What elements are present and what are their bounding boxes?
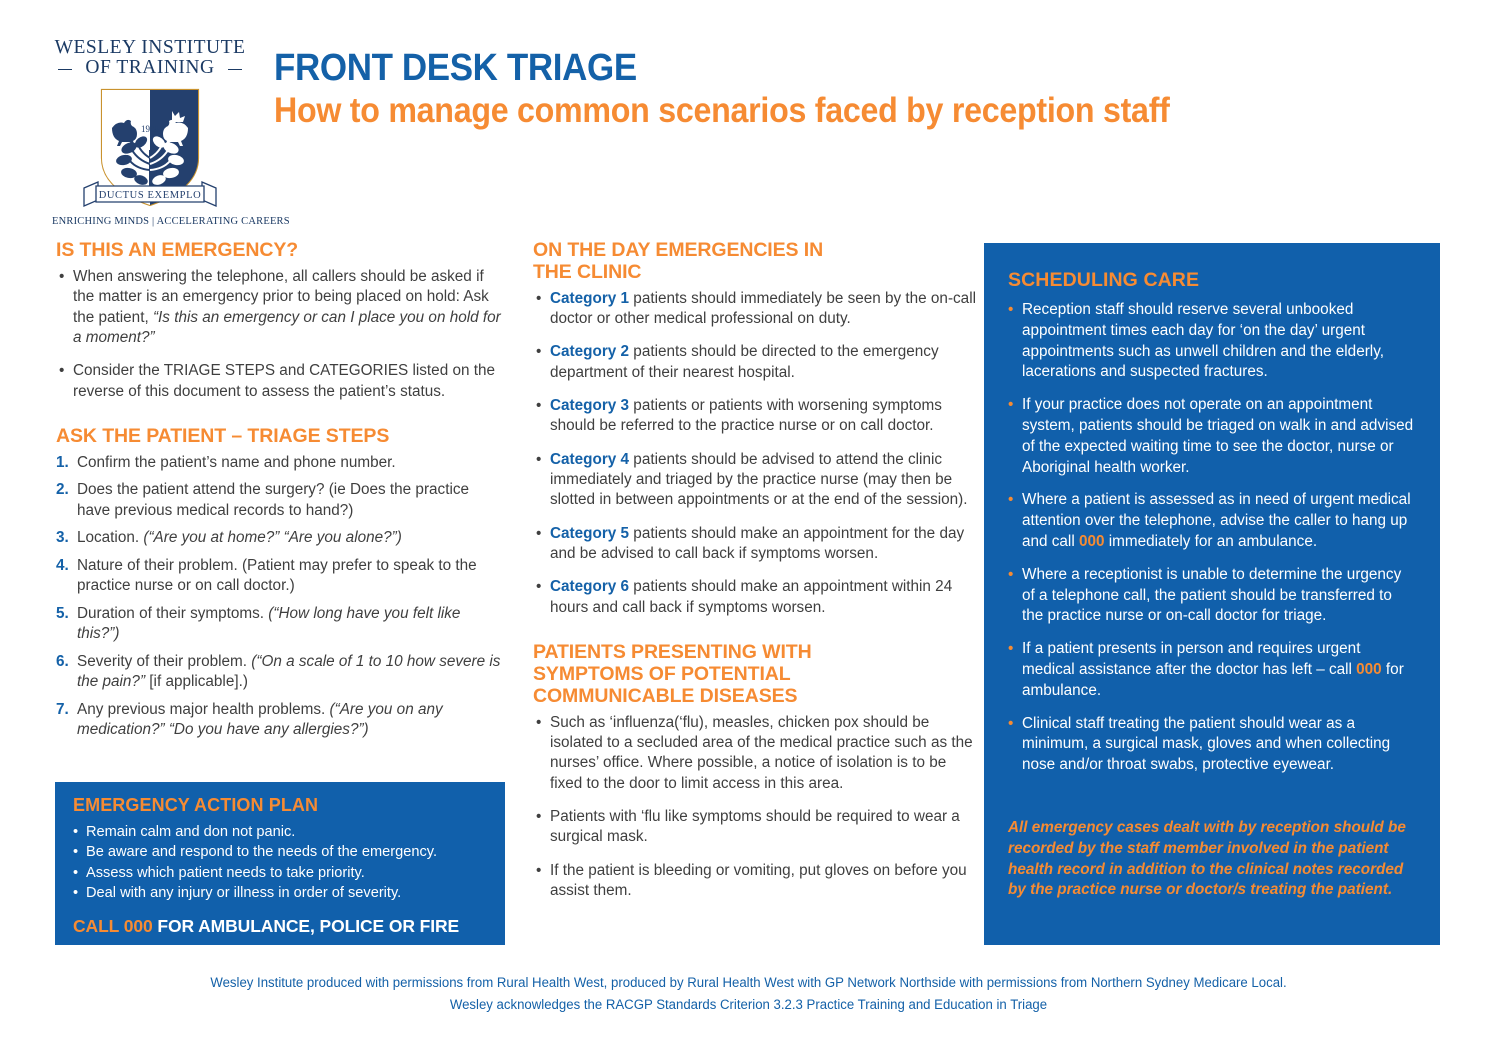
svg-text:1998: 1998 [141,124,160,134]
list-item: Consider the TRIAGE STEPS and CATEGORIES… [56,361,502,402]
triage-step: 7.Any previous major health problems. (“… [56,700,502,741]
quoted-phrase: (“How long have you felt like this?”) [77,605,460,642]
section-heading-communicable-diseases: PATIENTS PRESENTING WITH SYMPTOMS OF POT… [533,642,976,707]
list-item: Assess which patient needs to take prior… [73,864,487,883]
list-item: When answering the telephone, all caller… [56,267,502,348]
category-item: Category 4 patients should be advised to… [533,450,976,511]
step-number: 6. [56,652,69,672]
logo-tagline: ENRICHING MINDS | ACCELERATING CAREERS [52,216,248,227]
communicable-heading-line-2: SYMPTOMS OF POTENTIAL [533,663,791,685]
emergency-number: 000 [1079,533,1105,550]
category-item: Category 5 patients should make an appoi… [533,524,976,565]
logo-line-2: OF TRAINING [52,58,248,78]
category-item: Category 2 patients should be directed t… [533,342,976,383]
emergency-question-list: When answering the telephone, all caller… [56,267,502,402]
category-label: Category 3 [550,397,629,414]
section-heading-triage-steps: ASK THE PATIENT – TRIAGE STEPS [56,426,502,448]
communicable-heading-line-1: PATIENTS PRESENTING WITH [533,641,812,663]
category-label: Category 4 [550,451,629,468]
quoted-phrase: (“On a scale of 1 to 10 how severe is th… [77,653,500,690]
list-item: Reception staff should reserve several u… [1008,300,1416,383]
page-title: FRONT DESK TRIAGE [274,48,1304,88]
page-subtitle: How to manage common scenarios faced by … [274,91,1304,130]
list-item: If a patient presents in person and requ… [1008,639,1416,701]
communicable-heading-line-3: COMMUNICABLE DISEASES [533,685,797,707]
clinic-heading-line-1: ON THE DAY EMERGENCIES IN [533,239,823,261]
step-number: 3. [56,528,69,548]
list-item: If your practice does not operate on an … [1008,395,1416,478]
left-column: IS THIS AN EMERGENCY? When answering the… [56,240,502,748]
poster-page: WESLEY INSTITUTE OF TRAINING [0,0,1497,1058]
section-heading-is-this-an-emergency: IS THIS AN EMERGENCY? [56,240,502,262]
title-block: FRONT DESK TRIAGE How to manage common s… [274,48,1394,130]
list-item: Clinical staff treating the patient shou… [1008,714,1416,776]
list-item: Where a receptionist is unable to determ… [1008,565,1416,627]
logo-wordmark: WESLEY INSTITUTE OF TRAINING [52,38,248,78]
quoted-phrase: “Is this an emergency or can I place you… [73,309,501,346]
step-number: 4. [56,556,69,576]
crest-motto: DUCTUS EXEMPLO [99,190,202,201]
emergency-number: 000 [1356,661,1382,678]
list-item: If the patient is bleeding or vomiting, … [533,861,976,902]
triage-step: 1.Confirm the patient’s name and phone n… [56,453,502,473]
call-000-rest: FOR AMBULANCE, POLICE OR FIRE [153,916,460,936]
triage-steps-list: 1.Confirm the patient’s name and phone n… [56,453,502,741]
list-item: Such as ‘influenza(‘flu), measles, chick… [533,713,976,794]
list-item: Remain calm and don not panic. [73,823,487,842]
category-list: Category 1 patients should immediately b… [533,289,976,618]
category-item: Category 6 patients should make an appoi… [533,577,976,618]
middle-column: ON THE DAY EMERGENCIES IN THE CLINIC Cat… [533,240,976,914]
category-label: Category 1 [550,290,629,307]
list-item: Deal with any injury or illness in order… [73,884,487,903]
list-item: Patients with ‘flu like symptoms should … [533,807,976,848]
scheduling-care-list: Reception staff should reserve several u… [1008,300,1416,776]
quoted-phrase: (“Are you at home?” “Are you alone?”) [143,529,401,546]
step-number: 5. [56,604,69,624]
triage-step: 4.Nature of their problem. (Patient may … [56,556,502,597]
category-label: Category 5 [550,525,629,542]
poster-footer: Wesley Institute produced with permissio… [52,972,1444,1016]
list-item: Be aware and respond to the needs of the… [73,843,487,862]
scheduling-care-heading: SCHEDULING CARE [1008,269,1416,292]
category-label: Category 6 [550,578,629,595]
emergency-action-plan-list: Remain calm and don not panic.Be aware a… [73,823,487,903]
step-number: 1. [56,453,69,473]
category-item: Category 1 patients should immediately b… [533,289,976,330]
communicable-disease-list: Such as ‘influenza(‘flu), measles, chick… [533,713,976,902]
footer-line-1: Wesley Institute produced with permissio… [52,972,1444,994]
quoted-phrase: (“Are you on any medication?” “Do you ha… [77,701,443,738]
category-item: Category 3 patients or patients with wor… [533,396,976,437]
section-heading-on-the-day-emergencies: ON THE DAY EMERGENCIES IN THE CLINIC [533,240,976,284]
call-000-label: CALL 000 [73,916,153,936]
step-number: 2. [56,480,69,500]
triage-step: 3.Location. (“Are you at home?” “Are you… [56,528,502,548]
emergency-action-plan-box: EMERGENCY ACTION PLAN Remain calm and do… [55,782,505,945]
triage-step: 5.Duration of their symptoms. (“How long… [56,604,502,645]
poster-header: WESLEY INSTITUTE OF TRAINING [0,0,1497,232]
emergency-action-plan-heading: EMERGENCY ACTION PLAN [73,795,487,816]
logo-line-1: WESLEY INSTITUTE [52,38,248,58]
triage-step: 6.Severity of their problem. (“On a scal… [56,652,502,693]
list-item: Where a patient is assessed as in need o… [1008,490,1416,552]
footer-line-2: Wesley acknowledges the RACGP Standards … [52,994,1444,1016]
step-number: 7. [56,700,69,720]
crest-icon: 1998 [96,84,204,210]
emergency-record-note: All emergency cases dealt with by recept… [1008,818,1423,901]
triage-step: 2.Does the patient attend the surgery? (… [56,480,502,521]
wesley-institute-logo: WESLEY INSTITUTE OF TRAINING [52,38,248,227]
category-label: Category 2 [550,343,629,360]
clinic-heading-line-2: THE CLINIC [533,261,641,283]
call-000-line: CALL 000 FOR AMBULANCE, POLICE OR FIRE [73,916,487,937]
